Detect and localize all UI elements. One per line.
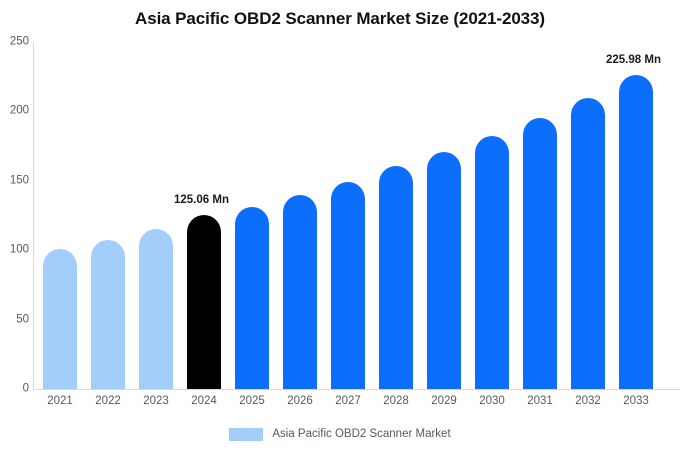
x-axis-tick-label: 2028 [373, 396, 419, 408]
bar-2033[interactable] [619, 75, 653, 389]
bar-value-label: 225.98 Mn [606, 55, 661, 67]
bar-2027[interactable] [331, 182, 365, 390]
bar-2028[interactable] [379, 166, 413, 389]
x-axis-tick-label: 2024 [181, 396, 227, 408]
bar-2026[interactable] [283, 195, 317, 389]
x-axis-tick-label: 2025 [229, 396, 275, 408]
bar-2030[interactable] [475, 136, 509, 389]
bar-2032[interactable] [571, 98, 605, 389]
x-axis-tick-label: 2021 [37, 396, 83, 408]
chart-legend: Asia Pacific OBD2 Scanner Market [0, 428, 680, 441]
bar-2021[interactable] [43, 249, 77, 389]
x-axis-tick-label: 2033 [613, 396, 659, 408]
bar-2022[interactable] [91, 240, 125, 389]
bar-value-label: 125.06 Mn [174, 195, 229, 207]
x-axis-tick-label: 2026 [277, 396, 323, 408]
x-axis-tick-label: 2023 [133, 396, 179, 408]
bar-chart: Asia Pacific OBD2 Scanner Market Size (2… [0, 0, 680, 450]
x-axis-tick-label: 2032 [565, 396, 611, 408]
x-axis-tick-label: 2031 [517, 396, 563, 408]
bar-2023[interactable] [139, 229, 173, 389]
legend-item-label: Asia Pacific OBD2 Scanner Market [272, 429, 450, 441]
bar-2029[interactable] [427, 152, 461, 389]
x-axis-tick-label: 2022 [85, 396, 131, 408]
bar-2031[interactable] [523, 118, 557, 389]
legend-swatch-icon [229, 428, 263, 441]
bar-2025[interactable] [235, 207, 269, 389]
x-axis-tick-label: 2027 [325, 396, 371, 408]
bars-layer: 2021202220232024125.06 Mn202520262027202… [0, 0, 680, 450]
x-axis-tick-label: 2030 [469, 396, 515, 408]
legend-item[interactable]: Asia Pacific OBD2 Scanner Market [229, 428, 450, 441]
x-axis-tick-label: 2029 [421, 396, 467, 408]
bar-2024[interactable] [187, 215, 221, 389]
